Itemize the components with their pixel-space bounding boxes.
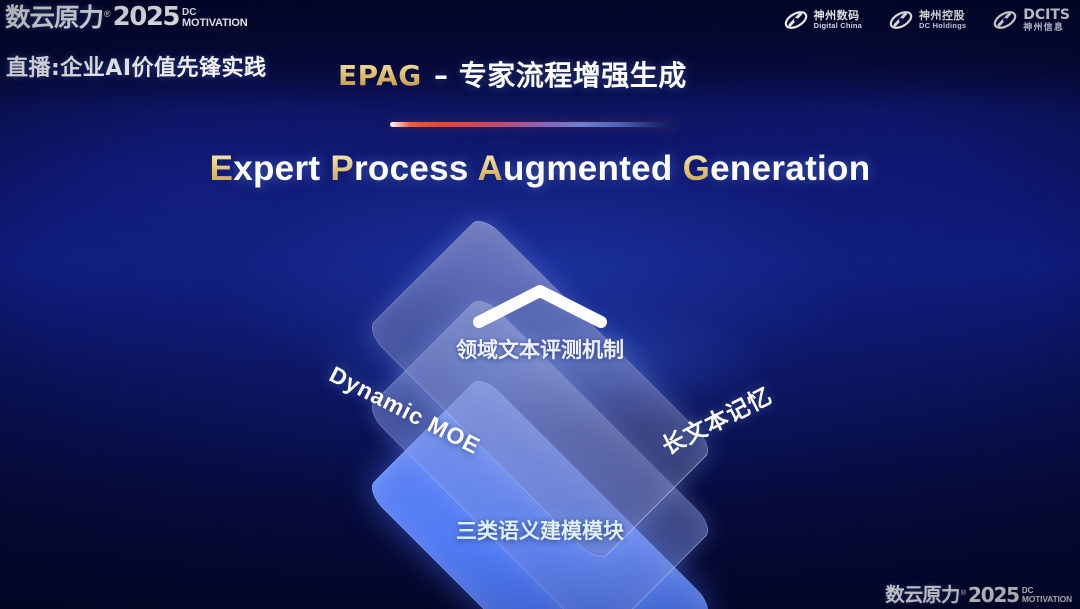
partner-name-en: Digital China (814, 22, 862, 30)
partner-logo-text: DCITS 神州信息 (1023, 8, 1070, 32)
page-title-part-6: G (683, 149, 711, 188)
brand-logo-registered: ® (104, 10, 111, 19)
watermark-logo-year: 2025 (968, 585, 1019, 605)
page-title-part-4: A (477, 149, 503, 188)
page-title: Expert Process Augmented Generation (0, 149, 1080, 189)
page-title-part-1: xpert (233, 149, 330, 188)
partner-logo-text: 神州控股 DC Holdings (919, 10, 966, 29)
swirl-icon (888, 7, 914, 33)
swirl-icon (783, 7, 809, 33)
watermark-logo-cn: 数云原力 (885, 586, 959, 605)
brand-logo-dc: DC MOTIVATION (182, 8, 247, 30)
page-title-part-0: E (210, 149, 234, 188)
accent-divider (390, 122, 678, 127)
partner-name-en: DC Holdings (919, 22, 966, 30)
swirl-icon (992, 7, 1018, 33)
watermark-logo: 数云原力® 2025 DC MOTIVATION (886, 585, 1072, 605)
watermark-logo-dc: DC MOTIVATION (1022, 587, 1072, 605)
slide-canvas: 数云原力® 2025 DC MOTIVATION 直播:企业AI价值先锋实践 E… (0, 0, 1080, 609)
partner-logos: 神州数码 Digital China 神州控股 DC Holdings (783, 7, 1070, 33)
slide-title-rest: – 专家流程增强生成 (424, 59, 687, 92)
brand-logo-year: 2025 (113, 4, 179, 30)
partner-logo-digital-china: 神州数码 Digital China (783, 7, 862, 33)
page-title-part-3: rocess (354, 149, 477, 188)
brand-logo-cn: 数云原力 (5, 5, 103, 30)
page-title-part-5: ugmented (503, 149, 683, 188)
watermark-logo-registered: ® (961, 590, 966, 597)
slide-title-acronym: EPAG (338, 59, 424, 92)
partner-name-cn: DCITS (1023, 8, 1070, 23)
slide-title: EPAG – 专家流程增强生成 (338, 54, 687, 94)
partner-logo-text: 神州数码 Digital China (814, 10, 862, 29)
live-subtitle: 直播:企业AI价值先锋实践 (6, 50, 267, 82)
brand-logo-dc-line2: MOTIVATION (182, 18, 247, 28)
layered-stack-diagram: 领域文本评测机制 Dynamic MOE 长文本记忆 三类语义建模模块 (260, 232, 820, 572)
brand-logo: 数云原力® 2025 DC MOTIVATION (6, 4, 247, 30)
watermark-logo-dc-line2: MOTIVATION (1022, 595, 1072, 603)
partner-logo-dc-holdings: 神州控股 DC Holdings (888, 7, 966, 33)
page-title-part-7: eneration (710, 149, 870, 188)
page-title-part-2: P (330, 149, 354, 188)
partner-logo-dcits: DCITS 神州信息 (992, 7, 1070, 33)
partner-name-en: 神州信息 (1023, 23, 1070, 32)
